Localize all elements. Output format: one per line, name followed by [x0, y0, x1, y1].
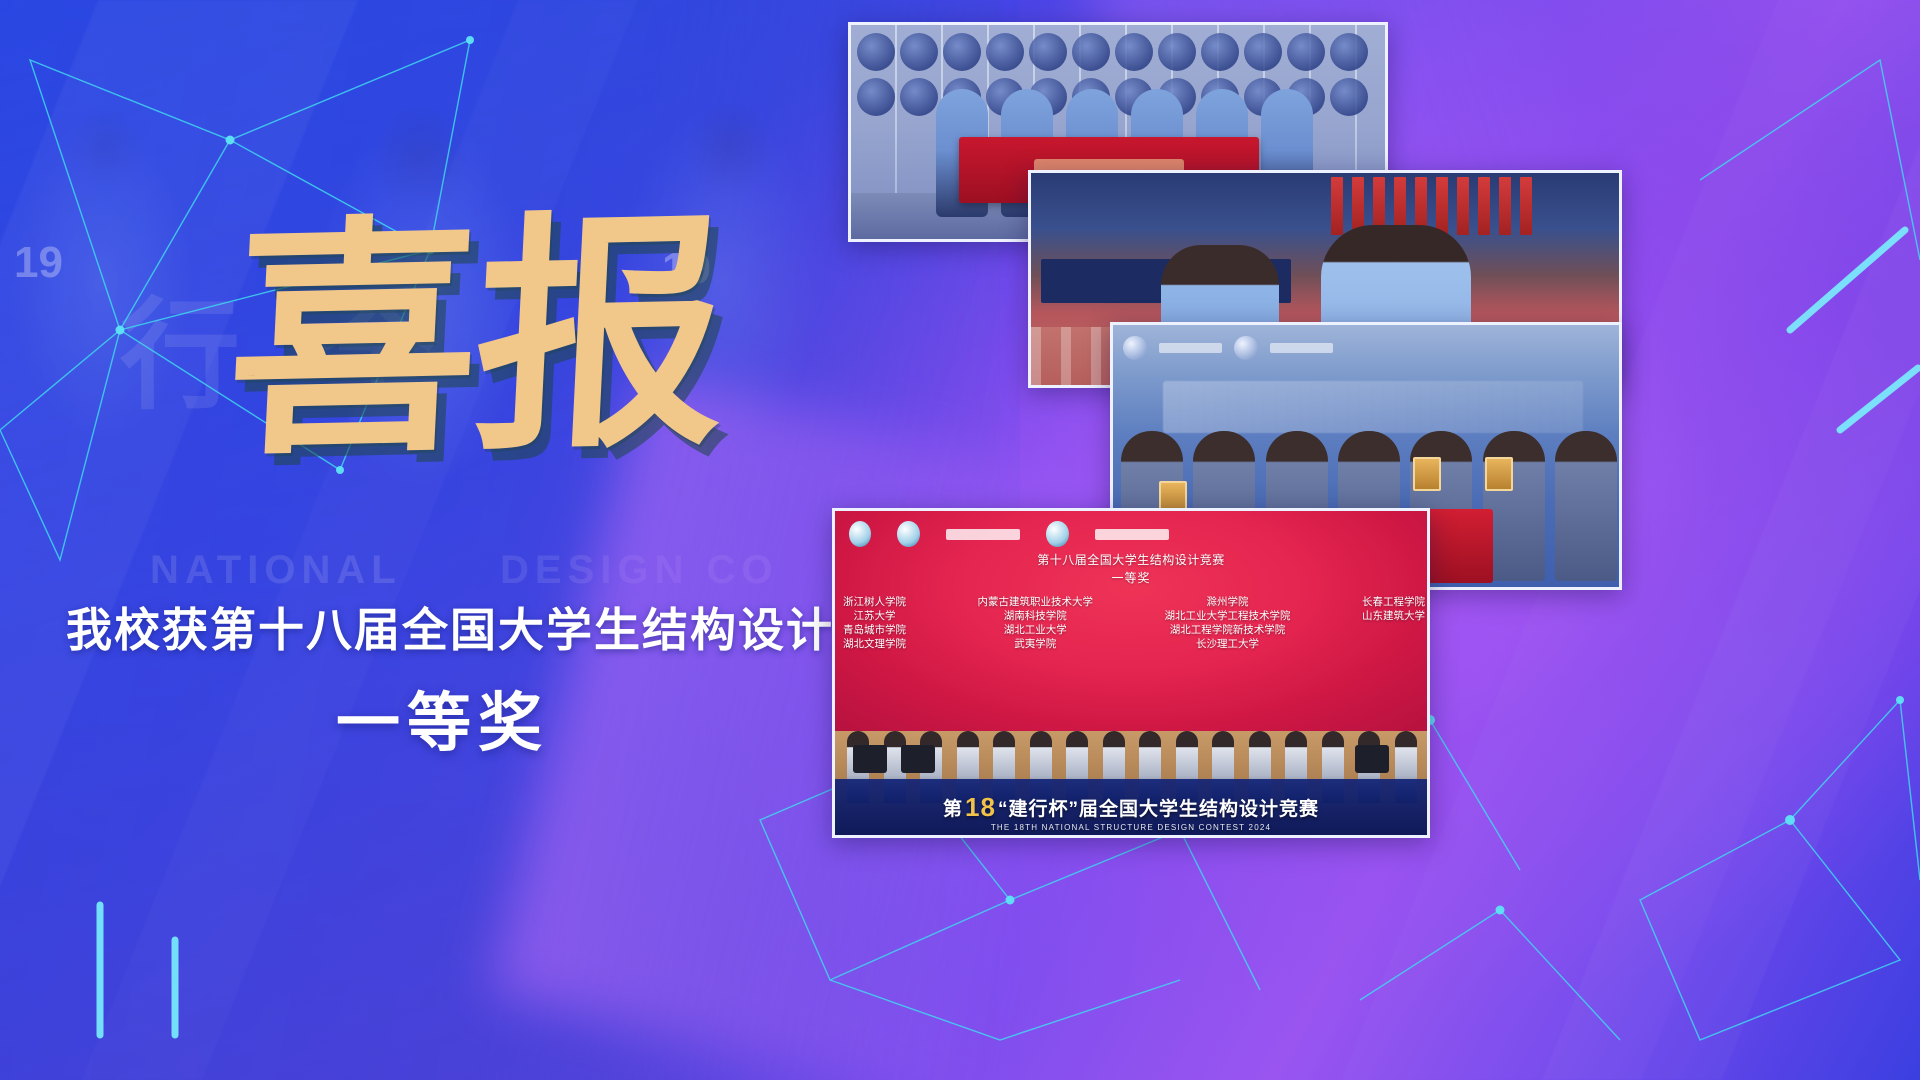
- award-level-text: 一等奖: [336, 672, 549, 764]
- stage-sponsor-logos: [1123, 333, 1333, 363]
- award-list-column-4: 长春工程学院 山东建筑大学: [1362, 595, 1425, 651]
- university-name: 湖南科技学院: [978, 609, 1094, 623]
- screen-sponsor-logos: [849, 517, 1169, 551]
- university-name: 青岛城市学院: [843, 623, 906, 637]
- screen-subtitle: 一等奖: [835, 569, 1427, 586]
- university-name: 长沙理工大学: [1165, 637, 1291, 651]
- stage-speaker: [1355, 745, 1389, 773]
- university-name: 江苏大学: [843, 609, 906, 623]
- photo-award-ceremony: 第十八届全国大学生结构设计竞赛 一等奖 浙江树人学院 江苏大学 青岛城市学院 湖…: [832, 508, 1430, 838]
- university-name: 浙江树人学院: [843, 595, 906, 609]
- award-list-column-1: 浙江树人学院 江苏大学 青岛城市学院 湖北文理学院: [843, 595, 906, 651]
- banner-cup-name: “建行杯”: [998, 794, 1079, 821]
- banner-edition-number: 18: [965, 792, 996, 823]
- university-name: 武夷学院: [978, 637, 1094, 651]
- university-name: 湖北工程学院新技术学院: [1165, 623, 1291, 637]
- university-name: 长春工程学院: [1362, 595, 1425, 609]
- screen-title: 第十八届全国大学生结构设计竞赛: [835, 551, 1427, 568]
- university-name: 湖北工业大学: [978, 623, 1094, 637]
- award-list-column-2: 内蒙古建筑职业技术大学 湖南科技学院 湖北工业大学 武夷学院: [978, 595, 1094, 651]
- poster-canvas: 行 全 NATIONAL DESIGN CO COLLEGE STU 19 19: [0, 0, 1920, 1080]
- jersey-number-left: 19: [14, 238, 63, 288]
- award-list-column-3: 滁州学院 湖北工业大学工程技术学院 湖北工程学院新技术学院 长沙理工大学: [1165, 595, 1291, 651]
- stage-speaker: [853, 745, 887, 773]
- banner-english-subtitle: THE 18TH NATIONAL STRUCTURE DESIGN CONTE…: [835, 823, 1427, 832]
- page-title: 我校获第十八届全国大学生结构设计竞赛: [66, 594, 930, 660]
- award-plaque: [1413, 457, 1441, 491]
- watermark-design-co: DESIGN CO: [500, 548, 778, 593]
- banner-edition-suffix: 届全国大学生结构设计竞赛: [1079, 794, 1319, 821]
- award-plaque: [1485, 457, 1513, 491]
- banner-edition-prefix: 第: [943, 794, 963, 821]
- stage-speaker: [901, 745, 935, 773]
- university-name: 山东建筑大学: [1362, 609, 1425, 623]
- led-screen: 第十八届全国大学生结构设计竞赛 一等奖 浙江树人学院 江苏大学 青岛城市学院 湖…: [835, 511, 1427, 731]
- calligraphy-title: 喜报: [220, 207, 755, 518]
- university-name: 滁州学院: [1165, 595, 1291, 609]
- university-name: 湖北文理学院: [843, 637, 906, 651]
- award-list-columns: 浙江树人学院 江苏大学 青岛城市学院 湖北文理学院 内蒙古建筑职业技术大学 湖南…: [843, 595, 1425, 651]
- university-name: 湖北工业大学工程技术学院: [1165, 609, 1291, 623]
- university-name: 内蒙古建筑职业技术大学: [978, 595, 1094, 609]
- watermark-national: NATIONAL: [150, 548, 402, 593]
- ceremony-bottom-banner: 第 18 “建行杯” 届全国大学生结构设计竞赛 THE 18TH NATIONA…: [835, 779, 1427, 835]
